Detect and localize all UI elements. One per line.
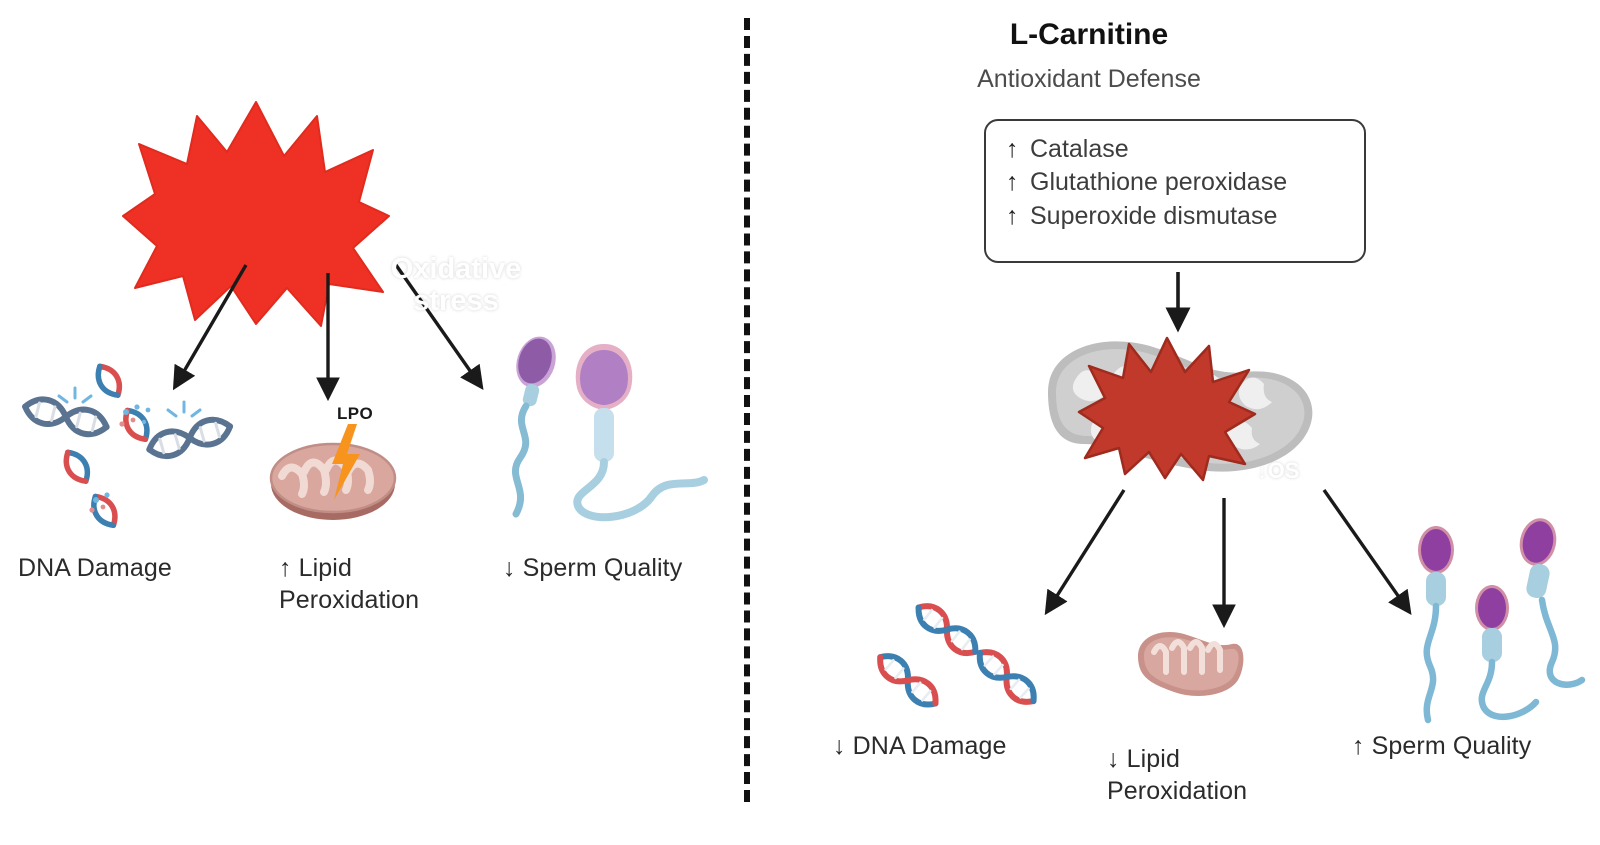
enzyme-label-gpx: Glutathione peroxidase	[1030, 168, 1287, 196]
starburst-text: Oxidative stress	[391, 253, 522, 318]
abnormal-sperm-icon	[476, 338, 712, 528]
right-label-dna-text: ↓ DNA Damage	[833, 732, 1007, 760]
left-label-dna-text: DNA Damage	[18, 554, 172, 582]
right-panel-title: L-Carnitine	[744, 18, 1434, 52]
right-panel: L-Carnitine Antioxidant Defense ↑Catalas…	[744, 0, 1600, 845]
fragmented-dna-icon	[6, 350, 256, 520]
right-label-sperm: ↑ Sperm Quality	[1352, 730, 1531, 762]
intact-dna-icon	[884, 592, 1064, 722]
sperm-cell-2	[1475, 585, 1536, 717]
diagram-canvas: Oxidative stress	[0, 0, 1600, 845]
sperm-cell-2	[576, 344, 704, 517]
enzyme-label-catalase: Catalase	[1030, 135, 1129, 163]
right-label-lipid-line1: ↓ Lipid	[1107, 743, 1297, 775]
arrow-box-to-mitochondrion	[1168, 272, 1188, 338]
lpo-badge-label: LPO	[337, 404, 373, 423]
left-label-dna: DNA Damage	[18, 552, 172, 584]
right-arrow-group	[1024, 470, 1424, 630]
lightning-bolt-icon	[328, 424, 362, 500]
enzyme-row-sod: ↑Superoxide dismutase	[1006, 200, 1342, 233]
enzyme-row-catalase: ↑Catalase	[1006, 133, 1342, 166]
enzyme-row-gpx: ↑Glutathione peroxidase	[1006, 166, 1342, 199]
left-label-lipid-line1: ↑ Lipid	[279, 552, 459, 584]
left-label-sperm-text: ↓ Sperm Quality	[503, 554, 682, 582]
enzyme-arrow-up-icon-1: ↑	[1006, 133, 1030, 166]
reduced-os-text: ↓OS	[1257, 460, 1300, 482]
left-label-lipid-line2: Peroxidation	[279, 584, 459, 616]
starburst-line2: stress	[391, 285, 522, 317]
sperm-cell-1	[510, 331, 562, 514]
enzyme-arrow-up-icon-3: ↑	[1006, 200, 1030, 233]
antioxidant-enzyme-box: ↑Catalase ↑Glutathione peroxidase ↑Super…	[984, 119, 1366, 263]
lpo-badge: LPO	[337, 404, 373, 424]
right-label-sperm-text: ↑ Sperm Quality	[1352, 732, 1531, 760]
right-panel-subtitle: Antioxidant Defense	[744, 65, 1434, 94]
sperm-cell-1	[1418, 526, 1454, 720]
right-label-lipid-line2: Peroxidation	[1107, 775, 1297, 807]
right-label-lipid: ↓ Lipid Peroxidation	[1107, 743, 1297, 807]
enzyme-arrow-up-icon-2: ↑	[1006, 166, 1030, 199]
starburst-line1: Oxidative	[391, 253, 522, 285]
healthy-mitochondrion-icon	[1134, 626, 1248, 702]
healthy-sperm-icon	[1374, 524, 1594, 724]
enzyme-label-sod: Superoxide dismutase	[1030, 202, 1277, 230]
left-label-sperm: ↓ Sperm Quality	[503, 552, 682, 584]
reduced-oxidative-stress-starburst: ↓OS	[1098, 336, 1278, 482]
left-panel: Oxidative stress	[0, 0, 744, 845]
sperm-cell-3	[1515, 515, 1582, 685]
right-label-dna: ↓ DNA Damage	[833, 730, 1007, 762]
left-label-lipid: ↑ Lipid Peroxidation	[279, 552, 459, 616]
reduced-os-starburst-shape	[1077, 336, 1257, 482]
